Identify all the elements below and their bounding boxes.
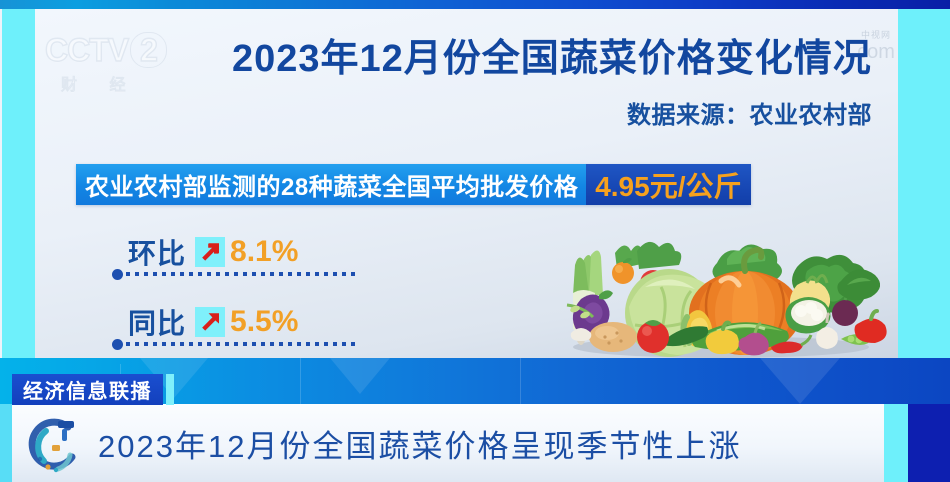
- band-line: [300, 358, 301, 404]
- band-triangle: [330, 358, 390, 394]
- vegetables-illustration: [545, 225, 895, 358]
- program-tag-accent: [166, 374, 174, 405]
- data-source-label: 数据来源：农业农村部: [232, 95, 872, 130]
- stat-value: 5.5%: [230, 305, 298, 339]
- stat-dotted-rule: [112, 268, 357, 280]
- right-cyan-rail: [898, 9, 950, 358]
- arc-ring-logo-icon: [12, 407, 98, 479]
- news-ticker: 2023年12月份全国蔬菜价格呈现季节性上涨: [12, 404, 884, 482]
- stat-row: 同比 5.5%: [112, 302, 357, 346]
- stat-dots: [126, 342, 357, 346]
- page-title: 2023年12月份全国蔬菜价格变化情况: [232, 36, 872, 82]
- right-lower-cyan-rail: [882, 404, 908, 482]
- program-tag-label: 经济信息联播: [12, 374, 163, 405]
- price-banner-value: 4.95元/公斤: [586, 164, 751, 205]
- stat-value: 8.1%: [230, 235, 298, 269]
- arrow-up-right-icon: [195, 307, 225, 337]
- stat-bullet-dot: [112, 339, 123, 350]
- stat-content: 同比 5.5%: [112, 302, 357, 342]
- broadcast-screen: CCTV2 财 经 中视网 com 2023年12月份全国蔬菜价格变化情况 数据…: [0, 0, 950, 482]
- stat-dotted-rule: [112, 338, 357, 350]
- ticker-headline: 2023年12月份全国蔬菜价格呈现季节性上涨: [98, 421, 741, 466]
- price-banner-label: 农业农村部监测的28种蔬菜全国平均批发价格: [76, 164, 586, 205]
- stat-bullet-dot: [112, 269, 123, 280]
- arrow-up-right-icon: [195, 237, 225, 267]
- top-gradient-strip: [0, 0, 950, 9]
- left-cyan-rail: [2, 9, 35, 358]
- stat-row: 环比 8.1%: [112, 232, 357, 276]
- price-banner: 农业农村部监测的28种蔬菜全国平均批发价格 4.95元/公斤: [76, 164, 751, 205]
- stat-dots: [126, 272, 357, 276]
- band-line: [520, 358, 521, 404]
- left-lower-rail: [0, 404, 12, 482]
- stat-label: 同比: [128, 302, 186, 342]
- stat-label: 环比: [128, 232, 186, 272]
- program-tag: 经济信息联播: [12, 374, 174, 405]
- stat-content: 环比 8.1%: [112, 232, 357, 272]
- band-triangle: [760, 358, 840, 404]
- right-lower-navy-block: [908, 404, 950, 482]
